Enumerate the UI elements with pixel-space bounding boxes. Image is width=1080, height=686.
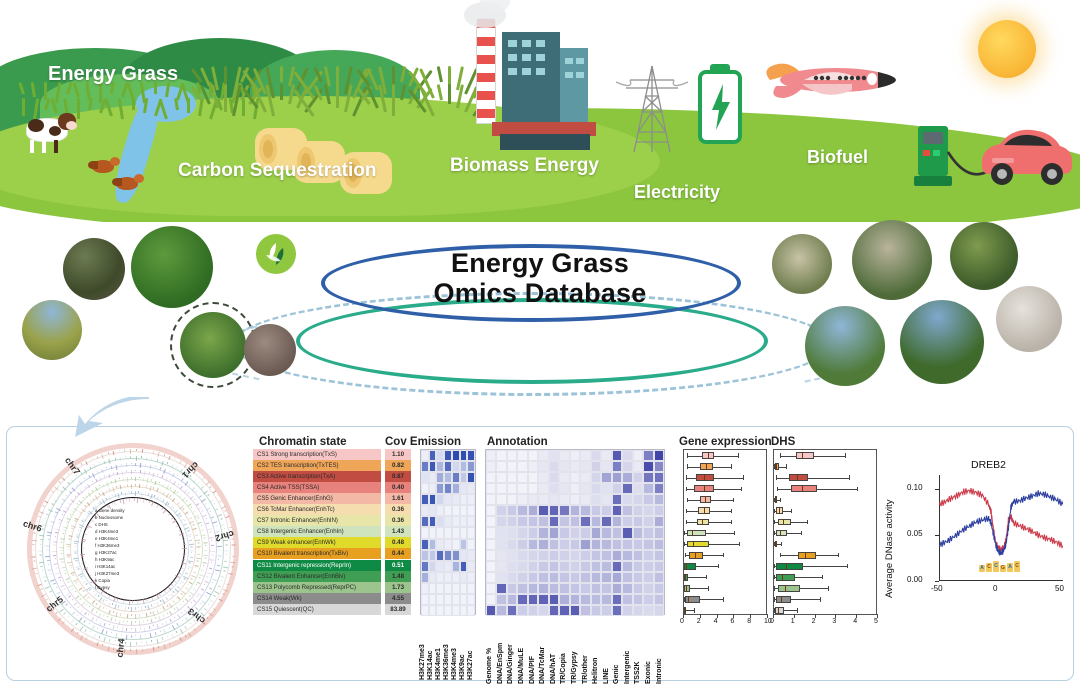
heatmap-cell <box>570 561 580 572</box>
heatmap-cell <box>612 594 622 605</box>
heatmap-cell <box>612 539 622 550</box>
heatmap-cell <box>452 450 460 461</box>
heatmap-cell <box>429 483 437 494</box>
heatmap-cell <box>538 605 548 616</box>
circos-track-tick <box>53 554 56 555</box>
circos-track-tick <box>187 530 189 532</box>
boxplot-box <box>775 607 783 614</box>
boxplot-whisker-cap <box>731 464 732 468</box>
circos-track-tick <box>201 525 202 526</box>
heatmap-cell <box>601 505 611 516</box>
heatmap-cell <box>421 527 429 538</box>
boxplot-whisker-cap <box>820 597 821 601</box>
heatmap-cell <box>633 461 643 472</box>
heatmap-cell <box>580 605 590 616</box>
boxplot-box <box>798 552 816 559</box>
circos-track-tick <box>141 649 142 652</box>
power-pylon-icon <box>616 60 688 156</box>
heatmap-cell <box>643 572 653 583</box>
heatmap-cell <box>622 516 632 527</box>
heatmap-cell <box>496 561 506 572</box>
annotation-column-label: TR/Copia <box>560 653 567 684</box>
heatmap-cell <box>538 583 548 594</box>
heatmap-cell <box>612 583 622 594</box>
circos-track-tick <box>209 568 212 570</box>
circos-track-tick <box>131 628 132 629</box>
grass-photo <box>950 222 1018 290</box>
circos-track-tick <box>63 533 64 534</box>
heatmap-cell <box>429 494 437 505</box>
heatmap-cell <box>538 594 548 605</box>
heatmap-cell <box>559 472 569 483</box>
boxplot-median <box>778 607 779 614</box>
boxplot-whisker-cap <box>723 553 724 557</box>
heatmap-cell <box>452 472 460 483</box>
heatmap-cell <box>496 483 506 494</box>
heatmap-cell <box>436 572 444 583</box>
circos-track-tick <box>140 470 141 473</box>
boxplot-box <box>776 574 794 581</box>
heatmap-cell <box>622 539 632 550</box>
heatmap-cell <box>421 483 429 494</box>
circos-legend: a Gene densityb Nucleosomec DHSd H3K4me3… <box>89 505 179 593</box>
heatmap-cell <box>633 450 643 461</box>
axis-tick-label: 1 <box>791 618 795 625</box>
chromatin-state-row[interactable]: CS2 TES transcription(TxTES) <box>253 460 381 471</box>
heatmap-cell <box>643 516 653 527</box>
heatmap-cell <box>570 550 580 561</box>
boxplot-whisker-cap <box>686 520 687 524</box>
circos-track-tick <box>124 492 126 496</box>
heatmap-cell <box>633 527 643 538</box>
heatmap-cell <box>460 539 468 550</box>
heatmap-cell <box>429 550 437 561</box>
dnase-y-tick: 0.00 <box>907 575 923 584</box>
heatmap-cell <box>467 550 475 561</box>
heatmap-cell <box>612 505 622 516</box>
circos-track-tick <box>60 550 63 551</box>
circos-track-tick <box>229 521 230 522</box>
boxplot-whisker-cap <box>822 575 823 579</box>
highlight-ring <box>170 302 256 388</box>
chromatin-state-row[interactable]: CS12 Bivalent Enhancer(EnhBiv) <box>253 571 381 582</box>
heatmap-cell <box>517 561 527 572</box>
motif-letter: G <box>1000 565 1006 572</box>
heatmap-cell <box>507 450 517 461</box>
circos-track-tick <box>184 555 185 556</box>
heatmap-cell <box>429 605 437 616</box>
circos-track-tick <box>83 558 84 559</box>
boxplot-box <box>789 474 809 481</box>
circos-track-tick <box>190 622 191 623</box>
heatmap-cell <box>559 550 569 561</box>
grass-tuft <box>132 98 135 110</box>
heatmap-cell <box>460 594 468 605</box>
chromatin-state-row[interactable]: CS6 TcMar Enhancer(EnhTc) <box>253 504 381 515</box>
boxplot-whisker-cap <box>774 575 775 579</box>
circos-track-tick <box>89 467 91 469</box>
heatmap-cell <box>467 494 475 505</box>
circos-track-tick <box>166 605 168 607</box>
circos-track-tick <box>148 471 149 473</box>
heatmap-cell <box>486 527 496 538</box>
circos-track-tick <box>174 640 175 641</box>
boxplot-median <box>685 574 686 581</box>
boxplot-whisker-cap <box>781 542 782 546</box>
chromatin-state-row[interactable]: CS3 Active transcription(TxA) <box>253 471 381 482</box>
heatmap-cell <box>467 605 475 616</box>
circos-track-tick <box>52 594 53 595</box>
heatmap-cell <box>612 561 622 572</box>
heatmap-cell <box>612 450 622 461</box>
heatmap-cell <box>429 505 437 516</box>
chromatin-state-row[interactable]: CS7 Intronic Enhancer(EnhIN) <box>253 515 381 526</box>
heatmap-cell <box>507 572 517 583</box>
heatmap-cell <box>517 594 527 605</box>
airplane-icon <box>760 50 900 112</box>
gene-expression-boxplot <box>683 449 767 615</box>
circos-track-tick <box>67 624 68 625</box>
heatmap-cell <box>622 561 632 572</box>
heatmap-cell <box>517 461 527 472</box>
heatmap-cell <box>559 594 569 605</box>
heatmap-cell <box>601 472 611 483</box>
circos-track-tick <box>136 449 137 451</box>
header-dhs: DHS <box>771 436 795 448</box>
boxplot-whisker-cap <box>743 475 744 479</box>
axis-tick-label: 8 <box>747 618 751 625</box>
heatmap-cell <box>421 494 429 505</box>
heatmap-cell <box>436 561 444 572</box>
boxplot-whisker-cap <box>774 586 775 590</box>
circos-track-tick <box>135 477 136 481</box>
boxplot-whisker-cap <box>723 597 724 601</box>
circos-track-tick <box>121 464 122 466</box>
circos-track-tick <box>174 458 175 459</box>
circos-track-tick <box>63 529 66 531</box>
boxplot-median <box>805 552 806 559</box>
chromatin-state-row[interactable]: CS1 Strong transcription(TxS) <box>253 449 381 460</box>
heatmap-cell <box>507 527 517 538</box>
heatmap-cell <box>486 550 496 561</box>
heatmap-cell <box>622 594 632 605</box>
heatmap-cell <box>528 539 538 550</box>
circos-track-tick <box>131 621 132 625</box>
heatmap-cell <box>580 572 590 583</box>
heatmap-cell <box>654 516 664 527</box>
heatmap-cell <box>444 561 452 572</box>
chromatin-state-list: CS1 Strong transcription(TxS)CS2 TES tra… <box>253 449 385 615</box>
circos-track-tick <box>135 607 136 610</box>
circos-track-tick <box>32 556 36 557</box>
boxplot-box <box>776 596 791 603</box>
heatmap-cell <box>601 539 611 550</box>
chromatin-state-row[interactable]: CS11 Intergenic repression(ReprIn) <box>253 560 381 571</box>
grass-tuft <box>448 66 451 86</box>
axis-tick-mark <box>717 614 718 618</box>
annotation-column-label: Intergenic <box>624 651 631 684</box>
circos-track-tick <box>131 470 132 474</box>
heatmap-cell <box>612 605 622 616</box>
heatmap-cell <box>622 527 632 538</box>
heatmap-cell <box>496 583 506 594</box>
heatmap-cell <box>591 505 601 516</box>
heatmap-cell <box>591 550 601 561</box>
heatmap-cell <box>591 483 601 494</box>
dnase-y-tick: 0.10 <box>907 483 923 492</box>
boxplot-median <box>780 530 781 537</box>
heatmap-cell <box>601 583 611 594</box>
axis-tick-mark <box>794 614 795 618</box>
axis-tick-label: 2 <box>697 618 701 625</box>
heatmap-cell <box>486 483 496 494</box>
heatmap-cell <box>496 539 506 550</box>
boxplot-whisker-cap <box>801 531 802 535</box>
circos-track-tick <box>113 472 114 473</box>
grass-tuft <box>336 84 339 108</box>
boxplot-box <box>796 452 814 459</box>
heatmap-cell <box>507 461 517 472</box>
circos-track-tick <box>220 518 222 520</box>
circos-track-tick <box>141 642 142 643</box>
heatmap-cell <box>622 483 632 494</box>
heatmap-cell <box>580 483 590 494</box>
heatmap-cell <box>517 550 527 561</box>
heatmap-cell <box>591 594 601 605</box>
circos-legend-item: k Copia <box>95 578 110 583</box>
motif-letter: C <box>1014 561 1020 572</box>
heatmap-cell <box>654 583 664 594</box>
boxplot-box <box>685 596 700 603</box>
heatmap-cell <box>654 527 664 538</box>
heatmap-cell <box>559 605 569 616</box>
heatmap-cell <box>643 539 653 550</box>
chromatin-state-row[interactable]: CS4 Active TSS(TSSA) <box>253 482 381 493</box>
circos-track-tick <box>138 607 139 608</box>
circos-track-tick <box>61 538 65 540</box>
heatmap-cell <box>580 561 590 572</box>
annotation-column-label: Helitron <box>592 658 599 684</box>
circos-legend-item: e H3K4me1 <box>95 536 118 541</box>
boxplot-whisker-cap <box>845 453 846 457</box>
grass-photo <box>805 306 885 386</box>
circos-track-tick <box>81 556 84 557</box>
annotation-heatmap <box>485 449 665 615</box>
heatmap-cell <box>436 550 444 561</box>
grass-photo <box>900 300 984 384</box>
axis-tick-mark <box>750 614 751 618</box>
heatmap-cell <box>601 527 611 538</box>
circos-track-tick <box>155 466 156 467</box>
heatmap-cell <box>517 450 527 461</box>
heatmap-cell <box>570 472 580 483</box>
heatmap-cell <box>654 472 664 483</box>
chromatin-state-row[interactable]: CS13 Polycomb Repressed(ReprPC) <box>253 582 381 593</box>
circos-track-tick <box>224 528 225 529</box>
heatmap-cell <box>601 550 611 561</box>
circos-track-tick <box>68 538 70 539</box>
circos-track-tick <box>188 514 189 515</box>
circos-track-tick <box>80 554 85 555</box>
circos-track-tick <box>54 515 55 516</box>
heatmap-cell <box>559 527 569 538</box>
leaf-badge-icon <box>256 234 296 274</box>
circos-track-tick <box>114 479 116 483</box>
circos-track-tick <box>167 635 168 636</box>
heatmap-cell <box>460 583 468 594</box>
circos-plot: a Gene densityb Nucleosomec DHSd H3K4me3… <box>19 435 247 675</box>
boxplot-whisker-cap <box>739 542 740 546</box>
circos-track-tick <box>69 564 72 566</box>
heatmap-cell <box>643 505 653 516</box>
heatmap-cell <box>570 527 580 538</box>
heatmap-cell <box>559 561 569 572</box>
chromatin-state-row[interactable]: CS15 Quiescent(QC) <box>253 604 381 615</box>
annotation-column-label: TR/Gypsy <box>571 651 578 684</box>
heatmap-cell <box>452 527 460 538</box>
heatmap-cell <box>467 450 475 461</box>
boxplot-whisker-cap <box>685 553 686 557</box>
boxplot-whisker-cap <box>684 531 685 535</box>
dnase-y-axis-label: Average DNase activity <box>884 499 895 598</box>
heatmap-cell <box>517 516 527 527</box>
axis-tick-mark <box>733 614 734 618</box>
boxplot-whisker-cap <box>776 475 777 479</box>
heatmap-cell <box>429 572 437 583</box>
chromatin-state-row[interactable]: CS8 Intergenic Enhancer(EnhIn) <box>253 526 381 537</box>
boxplot-whisker-cap <box>847 564 848 568</box>
grass-photo <box>22 300 82 360</box>
heatmap-cell <box>507 605 517 616</box>
heatmap-cell <box>549 550 559 561</box>
heatmap-cell <box>633 561 643 572</box>
heatmap-cell <box>429 516 437 527</box>
circos-track-tick <box>128 607 129 609</box>
dnase-y-tick-mark <box>935 581 939 582</box>
circos-legend-item: d H3K4me3 <box>95 529 118 534</box>
chromatin-state-row[interactable]: CS5 Genic Enhancer(EnhG) <box>253 493 381 504</box>
circos-track-tick <box>188 584 189 585</box>
heatmap-cell <box>612 494 622 505</box>
circos-track-tick <box>76 631 78 633</box>
heatmap-cell <box>570 594 580 605</box>
circos-track-tick <box>52 551 57 552</box>
heatmap-cell <box>460 483 468 494</box>
dhs-boxplot <box>773 449 877 615</box>
heatmap-cell <box>601 461 611 472</box>
heatmap-cell <box>528 583 538 594</box>
heatmap-cell <box>591 494 601 505</box>
heatmap-cell <box>429 539 437 550</box>
heatmap-cell <box>486 505 496 516</box>
circos-track-tick <box>75 495 76 496</box>
scene-label-0: Energy Grass <box>48 63 178 86</box>
heatmap-cell <box>436 516 444 527</box>
boxplot-whisker-cap <box>731 509 732 513</box>
heatmap-cell <box>496 527 506 538</box>
circos-track-tick <box>128 498 129 502</box>
heatmap-cell <box>460 472 468 483</box>
heatmap-cell <box>452 561 460 572</box>
boxplot-whisker-cap <box>838 553 839 557</box>
circos-track-tick <box>39 561 44 563</box>
heatmap-cell <box>444 605 452 616</box>
heatmap-cell <box>444 505 452 516</box>
heatmap-cell <box>591 561 601 572</box>
heatmap-cell <box>436 505 444 516</box>
circos-chr-label-chr4: chr4 <box>115 638 127 658</box>
heatmap-cell <box>538 494 548 505</box>
dnase-series-forward-strand <box>939 488 1063 552</box>
chromatin-state-row[interactable]: CS10 Bivalent transcription(TxBiv) <box>253 548 381 559</box>
heatmap-cell <box>580 494 590 505</box>
circos-track-tick <box>203 542 207 544</box>
heatmap-cell <box>643 450 653 461</box>
boxplot-median <box>783 519 784 526</box>
heatmap-cell <box>467 561 475 572</box>
heatmap-cell <box>622 605 632 616</box>
heatmap-cell <box>486 450 496 461</box>
circos-track-tick <box>225 550 229 551</box>
circos-track-tick <box>75 546 76 547</box>
circos-track-tick <box>73 557 78 559</box>
circos-track-tick <box>219 549 221 550</box>
circos-track-tick <box>181 535 183 537</box>
heatmap-cell <box>580 472 590 483</box>
cov-emission-value: 1.43 <box>385 526 411 537</box>
heatmap-cell <box>633 472 643 483</box>
heatmap-cell <box>444 483 452 494</box>
heatmap-cell <box>528 516 538 527</box>
boxplot-whisker-cap <box>774 597 775 601</box>
heatmap-cell <box>538 450 548 461</box>
boxplot-whisker-cap <box>687 453 688 457</box>
heatmap-cell <box>444 494 452 505</box>
heatmap-cell <box>436 494 444 505</box>
heatmap-cell <box>436 483 444 494</box>
grass-tuft <box>448 84 451 104</box>
chromatin-state-row[interactable]: CS14 Weak(Wk) <box>253 593 381 604</box>
heatmap-cell <box>643 561 653 572</box>
boxplot-box <box>689 552 703 559</box>
circos-track-tick <box>136 649 137 654</box>
circos-track-tick <box>32 539 37 541</box>
heatmap-cell <box>570 483 580 494</box>
heatmap-cell <box>549 527 559 538</box>
heatmap-cell <box>580 461 590 472</box>
emission-column-label: H3K27me3 <box>419 644 426 680</box>
heatmap-cell <box>549 483 559 494</box>
boxplot-whisker-cap <box>734 531 735 535</box>
circos-track-tick <box>197 554 200 555</box>
boxplot-whisker-cap <box>708 586 709 590</box>
boxplot-median <box>702 519 703 526</box>
circos-track-tick <box>107 616 108 617</box>
heatmap-cell <box>549 594 559 605</box>
heatmap-cell <box>486 516 496 527</box>
heatmap-cell <box>460 605 468 616</box>
heatmap-cell <box>654 539 664 550</box>
circos-legend-item: i H3K14ac <box>95 564 115 569</box>
dnase-y-tick: 0.05 <box>907 529 923 538</box>
dnase-x-tick: 0 <box>993 584 997 593</box>
cov-emission-value: 0.40 <box>385 482 411 493</box>
chromatin-state-row[interactable]: CS9 Weak enhancer(EnhWk) <box>253 537 381 548</box>
heatmap-cell <box>601 450 611 461</box>
axis-tick-mark <box>700 614 701 618</box>
circos-track-tick <box>60 502 62 504</box>
heatmap-cell <box>591 605 601 616</box>
